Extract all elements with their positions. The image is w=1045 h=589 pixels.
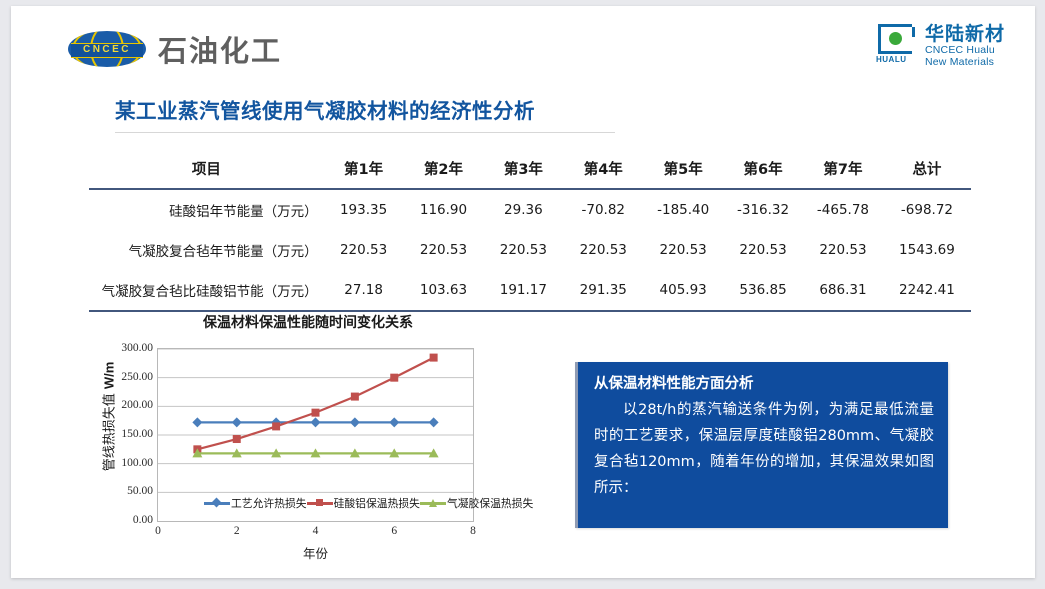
table-header-cell: 项目	[89, 150, 324, 189]
table-row-label: 气凝胶复合毡比硅酸铝节能（万元）	[89, 270, 324, 311]
table-header-cell: 第5年	[643, 150, 723, 189]
x-tick-label: 4	[313, 525, 319, 537]
table-cell: 116.90	[404, 189, 484, 230]
economics-table: 项目 第1年 第2年 第3年 第4年 第5年 第6年 第7年 总计 硅酸铝年节能…	[89, 150, 971, 312]
chart-legend: 工艺允许热损失硅酸铝保温热损失气凝胶保温热损失	[204, 495, 466, 511]
table-header-cell: 第4年	[563, 150, 643, 189]
table-cell: 536.85	[723, 270, 803, 311]
hualu-text-en-line1: CNCEC Hualu	[925, 44, 1005, 56]
table-cell: 291.35	[563, 270, 643, 311]
y-tick-label: 150.00	[121, 428, 153, 440]
x-tick-label: 8	[470, 525, 476, 537]
chart-title: 保温材料保温性能随时间变化关系	[73, 312, 543, 332]
legend-label: 硅酸铝保温热损失	[334, 495, 420, 511]
x-tick-label: 6	[391, 525, 397, 537]
brand-right: HUALU 华陆新材 CNCEC Hualu New Materials	[876, 24, 1005, 68]
callout-body: 以28t/h的蒸汽输送条件为例，为满足最低流量时的工艺要求，保温层厚度硅酸铝28…	[594, 397, 934, 501]
chart-data-point	[233, 435, 241, 443]
y-tick-label: 50.00	[127, 485, 153, 497]
table-cell: 405.93	[643, 270, 723, 311]
analysis-callout: 从保温材料性能方面分析 以28t/h的蒸汽输送条件为例，为满足最低流量时的工艺要…	[575, 362, 948, 528]
y-tick-label: 250.00	[121, 371, 153, 383]
table-header-row: 项目 第1年 第2年 第3年 第4年 第5年 第6年 第7年 总计	[89, 150, 971, 189]
chart-data-point	[430, 354, 438, 362]
x-tick-label: 2	[234, 525, 240, 537]
table-cell: -698.72	[883, 189, 971, 230]
chart-plot-area: 工艺允许热损失硅酸铝保温热损失气凝胶保温热损失	[157, 348, 474, 522]
chart-data-point	[389, 417, 399, 427]
chart-data-point	[232, 417, 242, 427]
table-cell: 220.53	[324, 230, 404, 270]
table-header-cell: 第1年	[324, 150, 404, 189]
y-tick-label: 200.00	[121, 399, 153, 411]
legend-swatch-triangle-icon	[420, 498, 446, 508]
table-body: 硅酸铝年节能量（万元）193.35116.9029.36-70.82-185.4…	[89, 189, 971, 311]
table-header-cell: 第3年	[483, 150, 563, 189]
chart-data-point	[312, 409, 320, 417]
y-tick-label: 100.00	[121, 457, 153, 469]
chart-data-point	[192, 417, 202, 427]
table-row: 硅酸铝年节能量（万元）193.35116.9029.36-70.82-185.4…	[89, 189, 971, 230]
table-cell: 220.53	[563, 230, 643, 270]
table-cell: 193.35	[324, 189, 404, 230]
screenshot-root: CNCEC 石油化工 HUALU 华陆新材 CNCEC Hualu New Ma…	[0, 0, 1045, 589]
table-cell: 1543.69	[883, 230, 971, 270]
y-tick-label: 0.00	[133, 514, 153, 526]
table-row: 气凝胶复合毡比硅酸铝节能（万元）27.18103.63191.17291.354…	[89, 270, 971, 311]
table-cell: 29.36	[483, 189, 563, 230]
legend-swatch-square-icon	[307, 498, 333, 508]
table-cell: 220.53	[643, 230, 723, 270]
brand-left-text: 石油化工	[158, 28, 282, 70]
legend-label: 气凝胶保温热损失	[447, 495, 533, 511]
chart-data-point	[272, 422, 280, 430]
chart-x-ticks: 02468	[157, 525, 474, 543]
table-cell: 220.53	[483, 230, 563, 270]
hualu-logo-word: HUALU	[876, 55, 907, 64]
table-cell: 220.53	[404, 230, 484, 270]
callout-title: 从保温材料性能方面分析	[594, 372, 934, 393]
table-cell: -465.78	[803, 189, 883, 230]
chart-data-point	[351, 393, 359, 401]
hualu-logo-icon: HUALU	[876, 24, 918, 64]
table-cell: 103.63	[404, 270, 484, 311]
table-cell: 27.18	[324, 270, 404, 311]
table-cell: 220.53	[723, 230, 803, 270]
chart-data-point	[429, 417, 439, 427]
table-cell: -316.32	[723, 189, 803, 230]
chart-data-point	[311, 417, 321, 427]
hualu-text-en-line2: New Materials	[925, 56, 1005, 68]
table-header-cell: 总计	[883, 150, 971, 189]
legend-label: 工艺允许热损失	[231, 495, 307, 511]
chart-x-axis-label: 年份	[157, 543, 474, 562]
chart-x-axis-line	[157, 521, 474, 522]
chart-data-point	[350, 417, 360, 427]
legend-item: 工艺允许热损失	[204, 495, 307, 511]
x-tick-label: 0	[155, 525, 161, 537]
table-cell: -70.82	[563, 189, 643, 230]
title-divider	[115, 132, 615, 133]
table-cell: 220.53	[803, 230, 883, 270]
legend-item: 气凝胶保温热损失	[420, 495, 533, 511]
hualu-logo-text: 华陆新材 CNCEC Hualu New Materials	[925, 24, 1005, 68]
cncec-globe-logo-icon: CNCEC	[68, 31, 146, 67]
table-cell: 2242.41	[883, 270, 971, 311]
table-cell: 686.31	[803, 270, 883, 311]
hualu-text-cn: 华陆新材	[925, 24, 1005, 44]
slide-page: CNCEC 石油化工 HUALU 华陆新材 CNCEC Hualu New Ma…	[11, 6, 1035, 578]
table-row: 气凝胶复合毡年节能量（万元）220.53220.53220.53220.5322…	[89, 230, 971, 270]
cncec-logo-letters: CNCEC	[71, 43, 143, 58]
y-tick-label: 300.00	[121, 342, 153, 354]
legend-item: 硅酸铝保温热损失	[307, 495, 420, 511]
chart-data-point	[390, 374, 398, 382]
table-header-cell: 第2年	[404, 150, 484, 189]
table-header-cell: 第7年	[803, 150, 883, 189]
table-row-label: 气凝胶复合毡年节能量（万元）	[89, 230, 324, 270]
table-row-label: 硅酸铝年节能量（万元）	[89, 189, 324, 230]
legend-swatch-diamond-icon	[204, 498, 230, 508]
chart-y-ticks: 0.0050.00100.00150.00200.00250.00300.00	[95, 348, 153, 520]
table-cell: 191.17	[483, 270, 563, 311]
line-chart: 保温材料保温性能随时间变化关系 管线热损失值 W/m 0.0050.00100.…	[73, 312, 543, 562]
table-cell: -185.40	[643, 189, 723, 230]
table-header-cell: 第6年	[723, 150, 803, 189]
brand-left: CNCEC 石油化工	[68, 28, 282, 70]
page-title: 某工业蒸汽管线使用气凝胶材料的经济性分析	[115, 94, 535, 124]
